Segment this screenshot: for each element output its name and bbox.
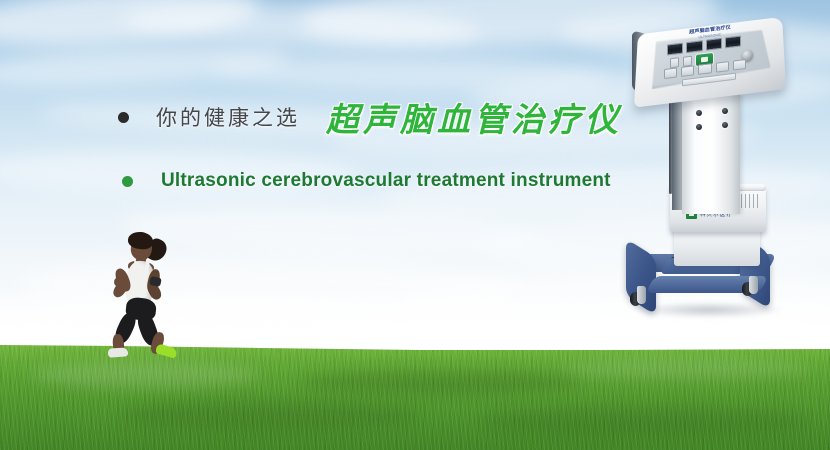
caster-fork (637, 286, 646, 304)
connector-socket[interactable] (722, 122, 728, 128)
grass-patch (560, 358, 810, 380)
connector-socket[interactable] (696, 124, 702, 130)
cloud-streak (119, 0, 480, 52)
cloud-streak (210, 53, 611, 94)
console-button[interactable] (698, 63, 711, 75)
console-button[interactable] (681, 65, 694, 77)
display-segment (706, 38, 722, 51)
grass-patch (30, 362, 260, 388)
display-segment (686, 40, 702, 53)
runner-figure (100, 228, 210, 353)
promo-banner: 科贝尔医疗 超声脑血管治疗仪 ULTRASONIC (0, 0, 830, 450)
medical-device-cart: 科贝尔医疗 超声脑血管治疗仪 ULTRASONIC (612, 14, 812, 314)
grass-patch (480, 406, 810, 436)
display-segment (667, 43, 683, 56)
runner-fist (114, 277, 124, 287)
console-upper-buttons (670, 56, 692, 67)
caster-fork (749, 276, 758, 294)
console-button[interactable] (716, 61, 729, 73)
grass-patch (120, 400, 420, 430)
cart-pole (682, 94, 740, 214)
cloud-streak (0, 40, 291, 93)
console-button[interactable] (664, 67, 677, 79)
cloud-streak (0, 0, 262, 54)
console-button[interactable] (733, 59, 746, 71)
grass-patch (300, 370, 580, 394)
connector-socket[interactable] (696, 110, 702, 116)
display-segment (725, 35, 741, 48)
runner-front-shoe (108, 347, 129, 357)
cloud-streak (40, 98, 401, 141)
cloud-streak (0, 147, 360, 198)
connector-socket[interactable] (722, 108, 728, 114)
